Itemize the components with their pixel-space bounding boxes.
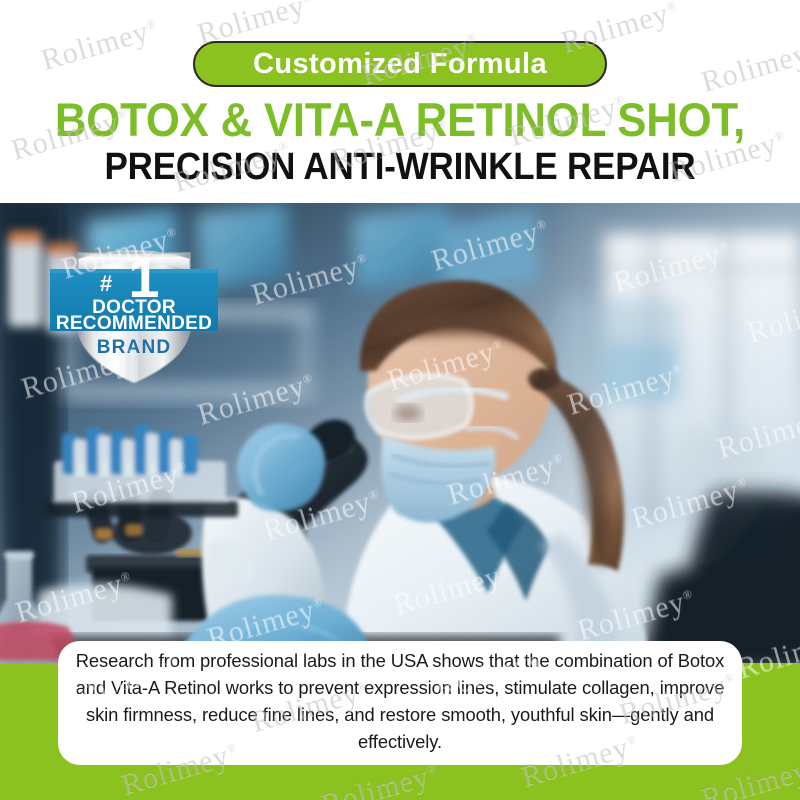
badge-line-brand: BRAND [97,337,172,358]
eyebrow-pill-wrap: Customized Formula [0,41,800,87]
shield-badge-icon: 1 # 1 # DOCTOR RECOMMENDED BRAND [36,239,232,391]
description-card: Research from professional labs in the U… [58,641,742,765]
eyebrow-pill-label: Customized Formula [253,50,547,79]
badge-line-recommended: RECOMMENDED [56,313,212,334]
page-title: BOTOX & VITA-A RETINOL SHOT, [28,96,772,144]
page-subtitle: PRECISION ANTI-WRINKLE REPAIR [32,148,768,188]
header-section: Customized Formula BOTOX & VITA-A RETINO… [0,0,800,203]
eyebrow-pill: Customized Formula [193,41,607,87]
product-poster: Customized Formula BOTOX & VITA-A RETINO… [0,0,800,800]
badge-rank-hash-overlay: # [100,271,112,296]
doctor-recommended-badge: 1 # 1 # DOCTOR RECOMMENDED BRAND [36,239,232,391]
description-text: Research from professional labs in the U… [74,647,726,755]
